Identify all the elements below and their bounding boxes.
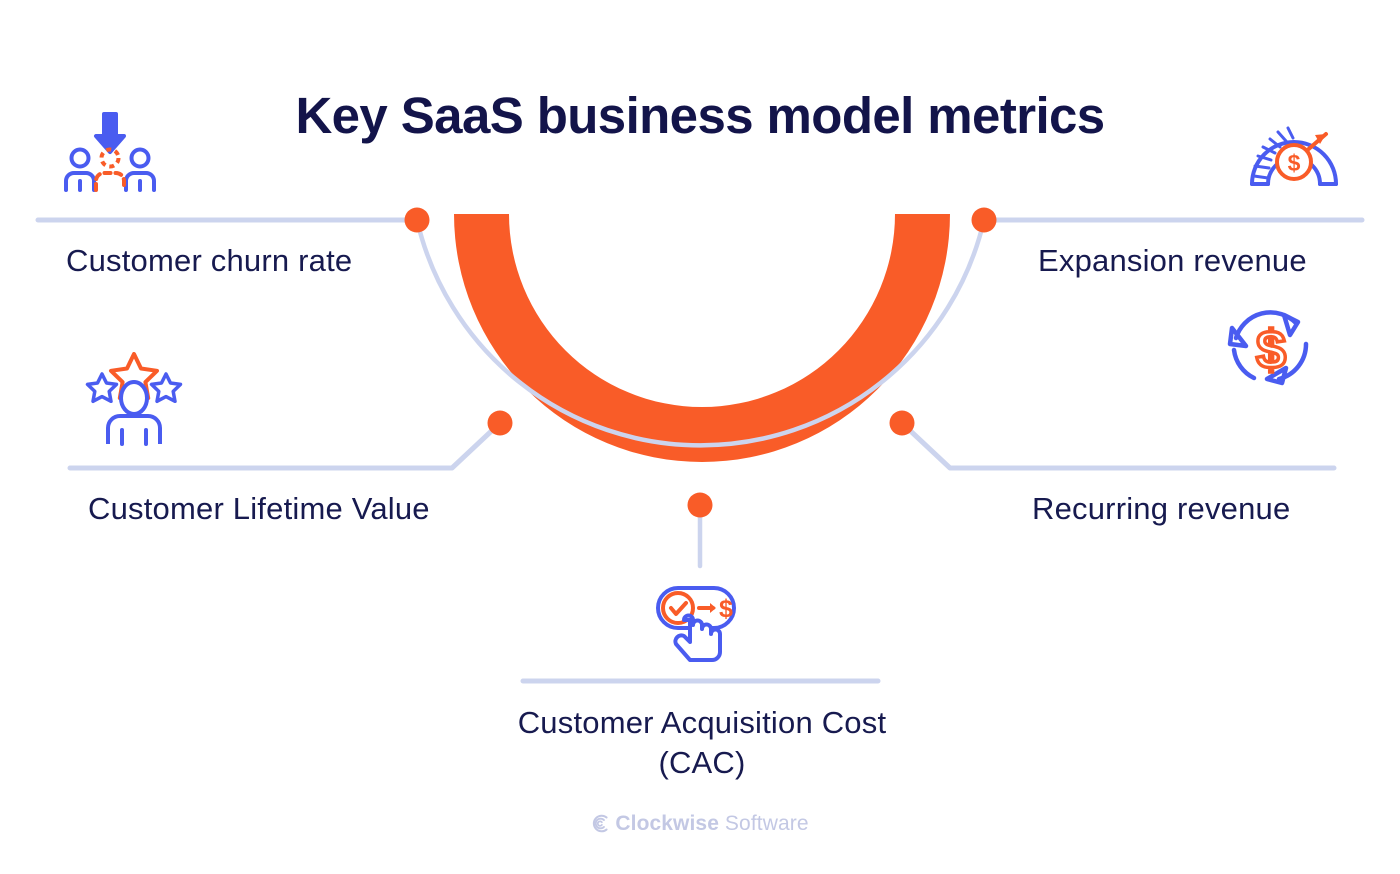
svg-text:$: $ [1288,150,1301,176]
metric-label-customer-churn-rate: Customer churn rate [66,241,352,281]
clockwise-spiral-icon [591,814,610,839]
metric-label-customer-lifetime-value: Customer Lifetime Value [88,489,430,529]
footer-logo: Clockwise Software [0,812,1400,839]
click-conversion-dollar-icon: $ [652,582,748,664]
node-dot-clv [488,411,513,436]
orange-arc [454,214,950,462]
connector-recurring [902,423,1334,468]
metric-label-recurring-revenue: Recurring revenue [1032,489,1290,529]
footer-logo-brand: Clockwise [615,812,719,835]
node-dot-recurring [890,411,915,436]
node-dot-expansion [972,208,997,233]
footer-logo-suffix: Software [719,812,809,835]
recycle-dollar-icon: $ [1222,298,1320,390]
svg-text:$: $ [719,595,733,623]
metric-label-expansion-revenue: Expansion revenue [1038,241,1307,281]
node-dot-churn [405,208,430,233]
people-churn-icon [58,106,162,194]
metric-label-customer-acquisition-cost: Customer Acquisition Cost (CAC) [470,703,934,783]
gauge-dollar-icon: $ [1242,106,1346,196]
svg-text:$: $ [1256,320,1286,380]
infographic-canvas: Key SaaS business model metrics [0,0,1400,874]
node-dot-cac [688,493,713,518]
person-stars-icon [84,352,184,446]
